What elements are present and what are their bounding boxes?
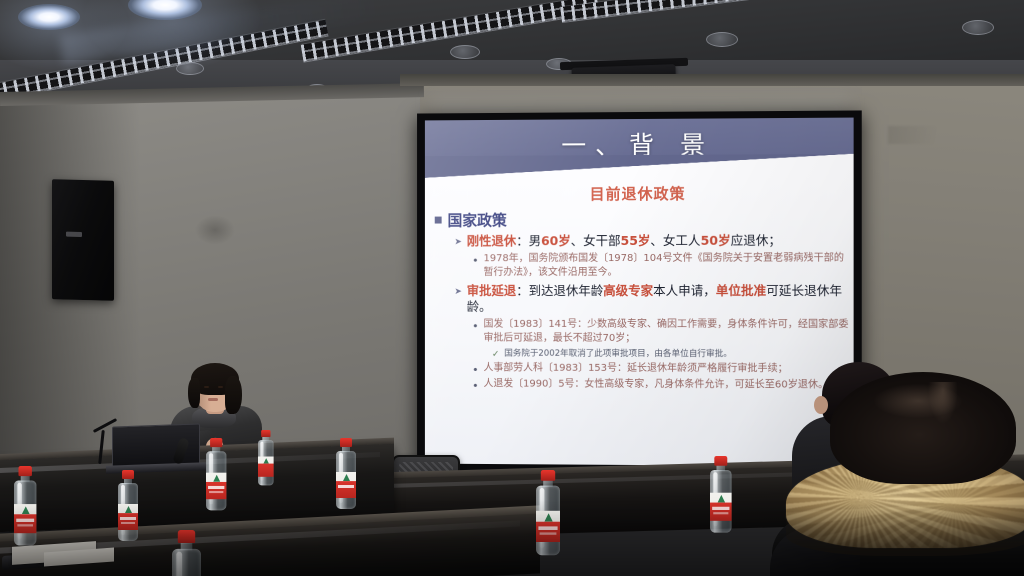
slide-header-band: 一、背 景 bbox=[425, 118, 854, 178]
bottle-cap bbox=[261, 430, 270, 437]
bullet-mid-2: 、女工人 bbox=[650, 233, 700, 248]
slide-heading: 国家政策 bbox=[448, 209, 507, 230]
bullet-mid-1: 、女干部 bbox=[571, 233, 621, 248]
bullet-separator: ： bbox=[516, 233, 528, 248]
slide-check-text: 国务院于2002年取消了此项审批项目，由各单位自行审批。 bbox=[504, 348, 732, 361]
slide-bullet-level3: • 1978年，国务院颁布国发〔1978〕104号文件《国务院关于安置老弱病残干… bbox=[472, 251, 853, 280]
bottle-cap bbox=[714, 456, 727, 466]
audience-member-front bbox=[786, 378, 1024, 576]
ceiling-spotlight-icon bbox=[18, 4, 80, 30]
presenter-hair-side bbox=[225, 376, 242, 414]
bottle-cap bbox=[122, 470, 134, 479]
presenter-eye bbox=[218, 386, 223, 388]
conference-room-photo: 一、背 景 目前退休政策 国家政策 ➤ 刚性退休：男60岁、女干部55岁、女工人… bbox=[0, 0, 1024, 576]
slide-bullet-level3: • 国发〔1983〕141号：少数高级专家、确因工作需要，身体条件许可，经国家部… bbox=[472, 318, 853, 347]
dot-bullet-icon: • bbox=[472, 321, 478, 332]
bottle-label-text bbox=[120, 517, 136, 520]
bottle-cap bbox=[210, 438, 222, 447]
bottle-label-text bbox=[338, 485, 354, 488]
bullet-term: 审批延退 bbox=[467, 283, 516, 298]
slide-bullet-level4: ✓ 国务院于2002年取消了此项审批项目，由各单位自行审批。 bbox=[492, 348, 854, 361]
bottle-cap bbox=[18, 466, 31, 476]
wall-mounted-speaker bbox=[52, 179, 114, 301]
bottle-cap bbox=[178, 530, 195, 543]
slide-subbullet-text: 人退发〔1990〕5号：女性高级专家，凡身体条件允许，可延长至60岁退休。 bbox=[484, 378, 829, 393]
bottle-label-text bbox=[16, 519, 34, 522]
slide-subtitle: 目前退休政策 bbox=[425, 182, 854, 205]
bottle-label-text bbox=[540, 532, 557, 534]
wall-trim bbox=[400, 74, 1024, 86]
dot-bullet-icon: • bbox=[472, 381, 478, 392]
slide-header-diagonal bbox=[425, 154, 854, 178]
slide-bullet-text: 刚性退休：男60岁、女干部55岁、女工人50岁应退休； bbox=[467, 233, 781, 250]
bottle-label-text bbox=[209, 491, 223, 493]
bottle-highlight bbox=[176, 552, 182, 576]
bullet-highlight-2: 单位批准 bbox=[716, 283, 766, 298]
slide-bullet-level2: ➤ 刚性退休：男60岁、女干部55岁、女工人50岁应退休； bbox=[454, 233, 853, 250]
bottle-label-text bbox=[712, 507, 729, 510]
bullet-mid-1: 本人申请， bbox=[653, 283, 716, 298]
presenter-mouth bbox=[208, 398, 218, 401]
square-bullet-icon bbox=[435, 217, 442, 224]
bullet-pre: 到达退休年龄 bbox=[529, 283, 604, 298]
dot-bullet-icon: • bbox=[472, 255, 478, 266]
presenter-eye bbox=[204, 386, 209, 388]
bullet-highlight-3: 50岁 bbox=[701, 233, 731, 248]
bullet-highlight-1: 高级专家 bbox=[603, 283, 653, 298]
arrow-bullet-icon: ➤ bbox=[454, 237, 461, 247]
speaker-badge bbox=[66, 232, 82, 237]
bullet-highlight-1: 60岁 bbox=[541, 233, 571, 248]
wall-smudge bbox=[195, 215, 235, 245]
bullet-pre: 男 bbox=[529, 233, 541, 248]
bullet-tail: 应退休； bbox=[731, 233, 781, 248]
bottle-label-text bbox=[17, 524, 33, 526]
dot-bullet-icon: • bbox=[472, 365, 478, 376]
bullet-highlight-2: 55岁 bbox=[621, 233, 651, 248]
bottle-label-text bbox=[208, 486, 224, 489]
bullet-separator: ： bbox=[516, 283, 528, 298]
slide-subbullet-text: 1978年，国务院颁布国发〔1978〕104号文件《国务院关于安置老弱病残干部的… bbox=[484, 251, 854, 280]
presenter-hair-side bbox=[188, 378, 200, 408]
slide-bullet-level3: • 人事部劳人科〔1983〕153号：延长退休年龄须严格履行审批手续； bbox=[472, 362, 853, 377]
wall-mark bbox=[888, 126, 948, 144]
hair-part bbox=[928, 382, 958, 424]
slide-subbullet-text: 国发〔1983〕141号：少数高级专家、确因工作需要，身体条件许可，经国家部委审… bbox=[484, 318, 854, 347]
check-bullet-icon: ✓ bbox=[492, 350, 499, 360]
smoke-detector-icon bbox=[706, 32, 738, 47]
smoke-detector-icon bbox=[176, 62, 204, 75]
bullet-term: 刚性退休 bbox=[467, 233, 516, 248]
arrow-bullet-icon: ➤ bbox=[454, 287, 461, 297]
slide-heading-row: 国家政策 bbox=[435, 208, 854, 230]
slide-bullet-text: 审批延退：到达退休年龄高级专家本人申请，单位批准可延长退休年龄。 bbox=[467, 283, 854, 316]
bottle-label-text bbox=[713, 512, 728, 514]
slide-bullet-level2: ➤ 审批延退：到达退休年龄高级专家本人申请，单位批准可延长退休年龄。 bbox=[454, 283, 853, 316]
smoke-detector-icon bbox=[962, 20, 994, 35]
smoke-detector-icon bbox=[450, 45, 480, 59]
bottle-cap bbox=[340, 438, 352, 447]
bottle-cap bbox=[541, 470, 555, 481]
slide-subbullet-text: 人事部劳人科〔1983〕153号：延长退休年龄须严格履行审批手续； bbox=[484, 362, 788, 377]
fur-hood-shadow bbox=[786, 504, 1024, 556]
bottle-label-text bbox=[121, 522, 135, 524]
bottle-label-text bbox=[538, 526, 557, 530]
